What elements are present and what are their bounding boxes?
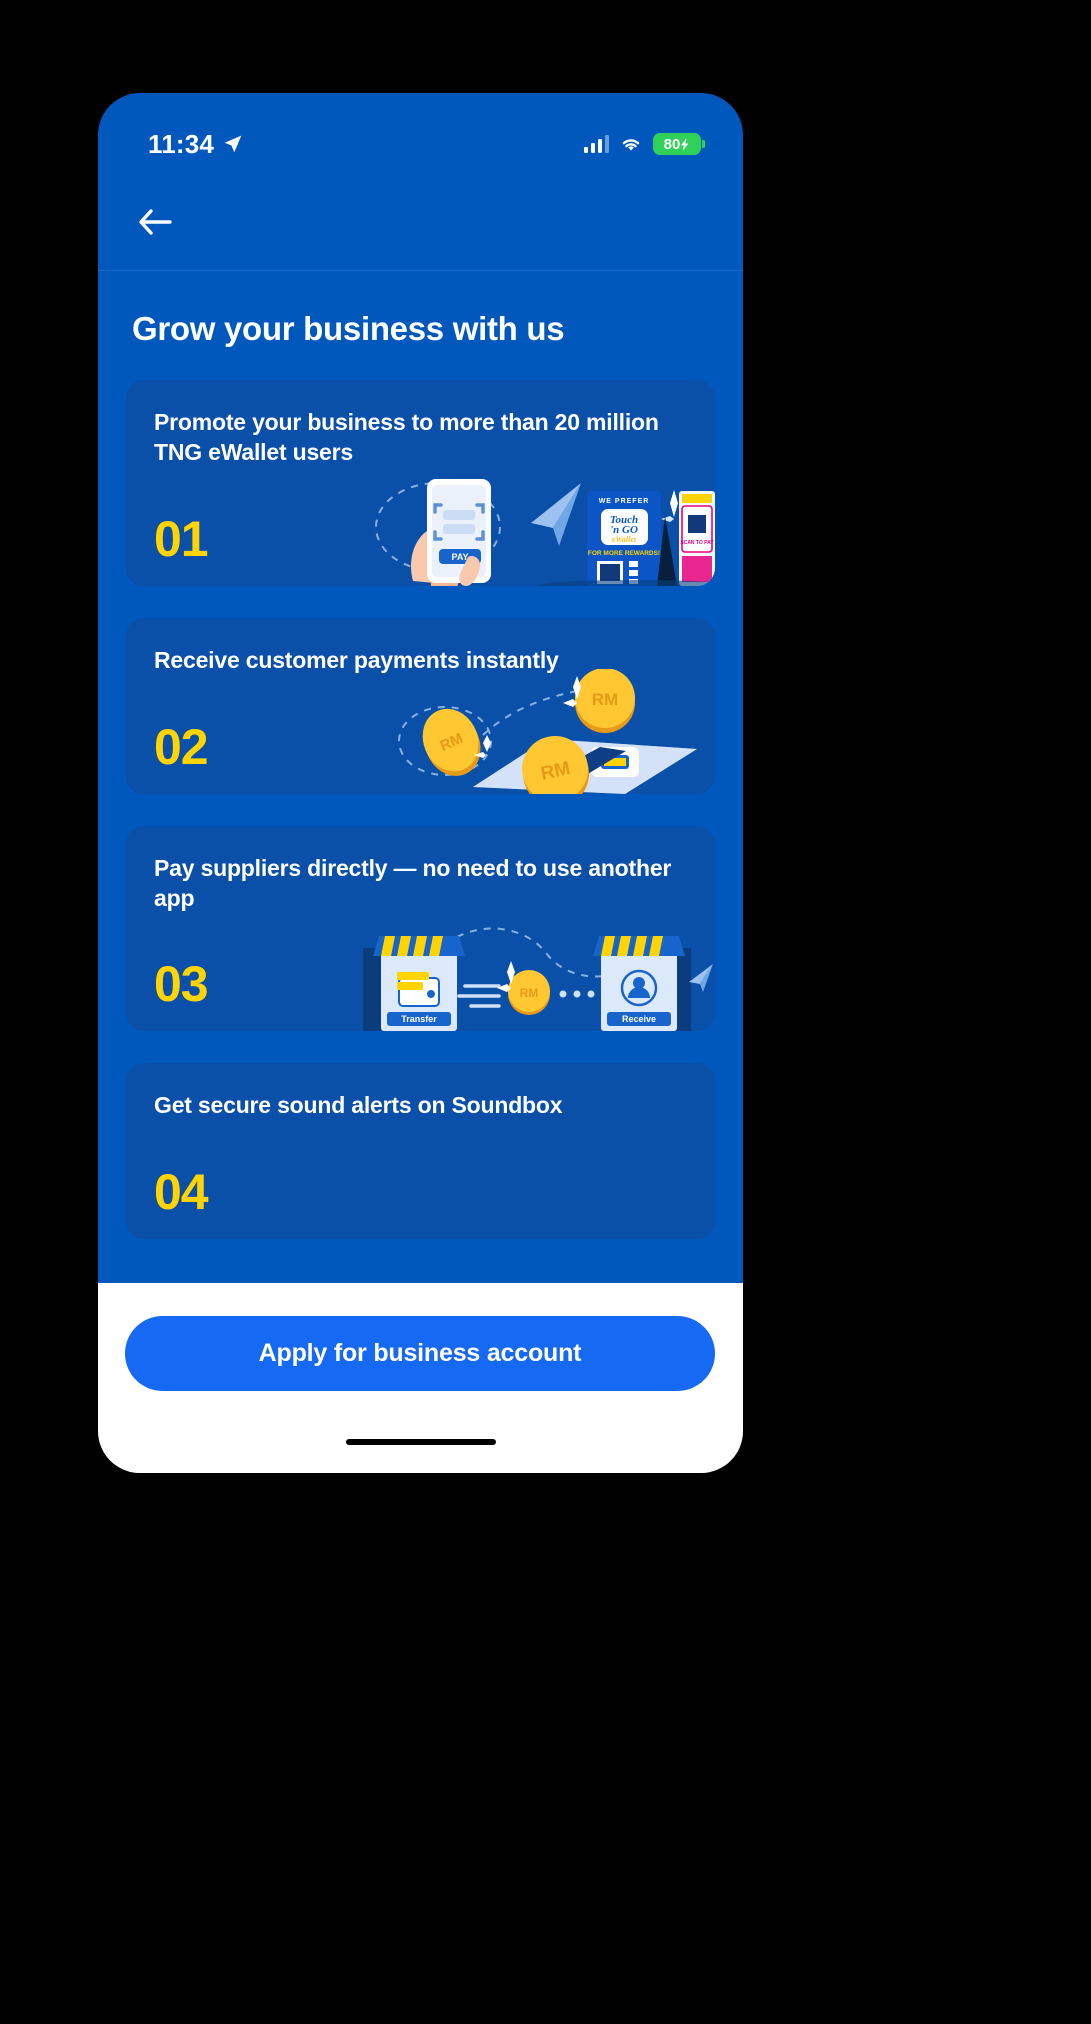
battery-indicator: 80 — [653, 133, 701, 155]
scroll-content[interactable]: Grow your business with us Promote your … — [98, 272, 743, 1293]
benefit-card-04[interactable]: Get secure sound alerts on Soundbox 04 — [126, 1063, 715, 1239]
wifi-icon — [619, 135, 643, 153]
battery-percent: 80 — [664, 137, 681, 152]
home-indicator — [346, 1439, 496, 1445]
benefit-card-number: 02 — [126, 718, 208, 776]
status-bar-right: 80 — [584, 133, 702, 155]
benefit-card-number: 04 — [126, 1163, 208, 1221]
svg-text:PAY: PAY — [451, 552, 468, 562]
status-time: 11:34 — [148, 129, 214, 160]
benefit-card-01[interactable]: Promote your business to more than 20 mi… — [126, 380, 715, 586]
benefit-card-title: Get secure sound alerts on Soundbox — [126, 1063, 715, 1121]
lightning-bolt-icon — [681, 138, 690, 151]
svg-text:RM: RM — [592, 690, 618, 709]
location-arrow-icon — [223, 134, 243, 154]
benefit-card-body: 04 — [126, 1121, 715, 1239]
rm-coins-card-illustration: RM RM RM — [355, 669, 715, 794]
apply-for-business-account-button[interactable]: Apply for business account — [125, 1316, 715, 1391]
page-title: Grow your business with us — [98, 272, 743, 348]
benefit-card-02[interactable]: Receive customer payments instantly 02 — [126, 618, 715, 794]
benefit-card-title: Promote your business to more than 20 mi… — [126, 380, 715, 468]
back-button[interactable] — [132, 199, 178, 245]
benefit-card-body: 03 Trans — [126, 913, 715, 1031]
benefit-card-body: 02 — [126, 676, 715, 794]
svg-text:Receive: Receive — [622, 1014, 656, 1024]
nav-bar — [98, 171, 743, 271]
phone-screen: 11:34 80 — [98, 93, 743, 1473]
status-bar-left: 11:34 — [148, 129, 243, 160]
svg-text:FOR MORE REWARDS!: FOR MORE REWARDS! — [588, 550, 660, 557]
phone-frame: 11:34 80 — [93, 88, 748, 1478]
svg-text:RM: RM — [520, 986, 539, 1000]
storefront-transfer-receive-illustration: Transfer RM — [315, 906, 715, 1031]
benefit-card-number: 01 — [126, 510, 208, 568]
cellular-signal-icon — [584, 135, 610, 153]
svg-text:SCAN TO PAY: SCAN TO PAY — [680, 540, 714, 546]
phone-qr-scan-standee-illustration: PAY WE PREFER Touch 'n GO eWallet FOR MO… — [335, 461, 715, 586]
svg-text:Transfer: Transfer — [401, 1014, 437, 1024]
benefit-card-body: 01 — [126, 468, 715, 586]
benefit-card-03[interactable]: Pay suppliers directly — no need to use … — [126, 826, 715, 1032]
svg-text:eWallet: eWallet — [612, 535, 637, 544]
svg-text:WE PREFER: WE PREFER — [599, 498, 650, 505]
benefit-card-title: Receive customer payments instantly — [126, 618, 715, 676]
status-bar: 11:34 80 — [98, 93, 743, 171]
bottom-action-bar: Apply for business account — [98, 1283, 743, 1473]
benefit-card-title: Pay suppliers directly — no need to use … — [126, 826, 715, 914]
back-arrow-icon — [138, 208, 172, 236]
benefit-card-number: 03 — [126, 955, 208, 1013]
